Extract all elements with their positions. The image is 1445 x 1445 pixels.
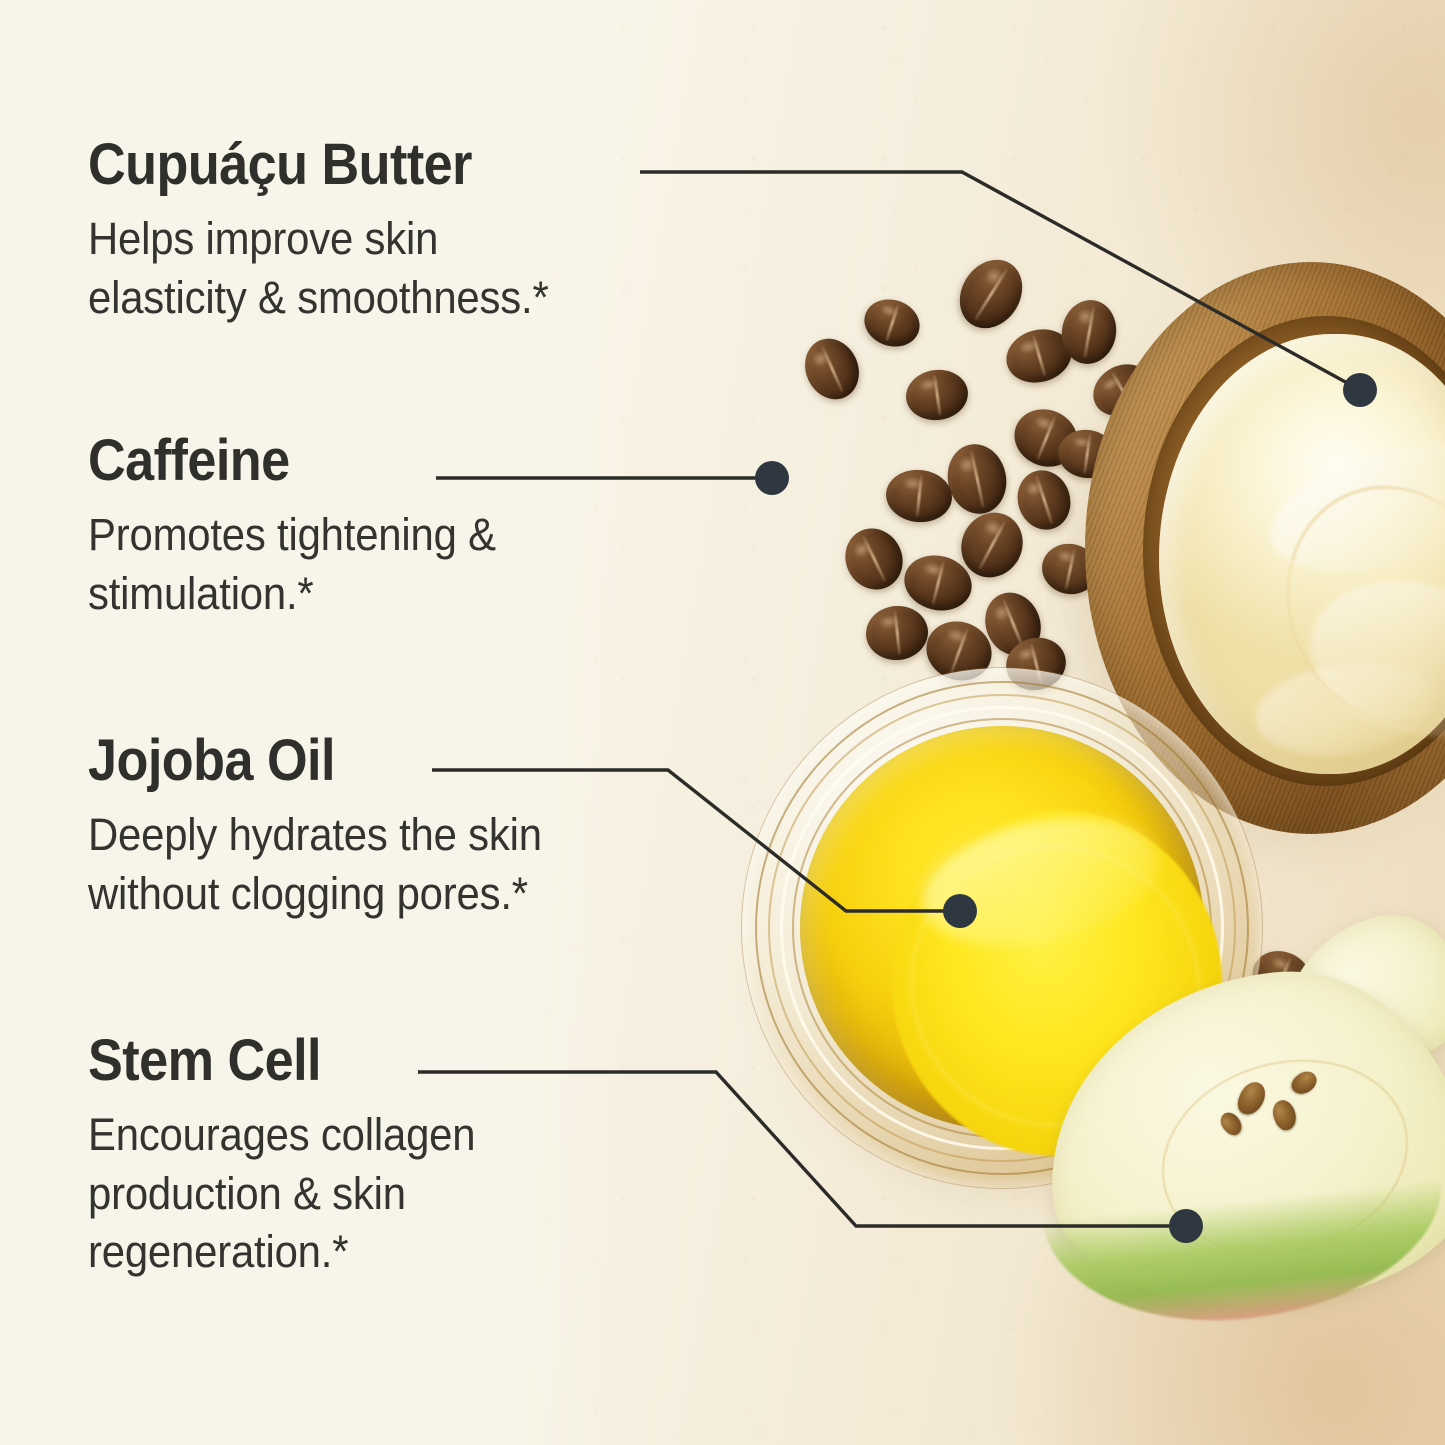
callout-title: Caffeine — [88, 432, 483, 490]
callout-title: Cupuáçu Butter — [88, 136, 534, 194]
callout-description: Deeply hydrates the skinwithout clogging… — [88, 806, 542, 923]
infographic-canvas: Cupuáçu Butter Helps improve skinelastic… — [0, 0, 1445, 1445]
callout-jojoba-oil: Jojoba Oil Deeply hydrates the skinwitho… — [88, 732, 576, 923]
callout-description: Helps improve skinelasticity & smoothnes… — [88, 210, 549, 327]
callout-stem-cell: Stem Cell Encourages collagenproduction … — [88, 1032, 505, 1282]
callout-caffeine: Caffeine Promotes tightening &stimulatio… — [88, 432, 527, 623]
callout-cupuacu-butter: Cupuáçu Butter Helps improve skinelastic… — [88, 136, 583, 327]
callout-text-layer: Cupuáçu Butter Helps improve skinelastic… — [0, 0, 1445, 1445]
callout-description: Promotes tightening &stimulation.* — [88, 506, 496, 623]
callout-title: Jojoba Oil — [88, 732, 527, 790]
callout-description: Encourages collagenproduction & skinrege… — [88, 1106, 475, 1282]
callout-title: Stem Cell — [88, 1032, 463, 1090]
